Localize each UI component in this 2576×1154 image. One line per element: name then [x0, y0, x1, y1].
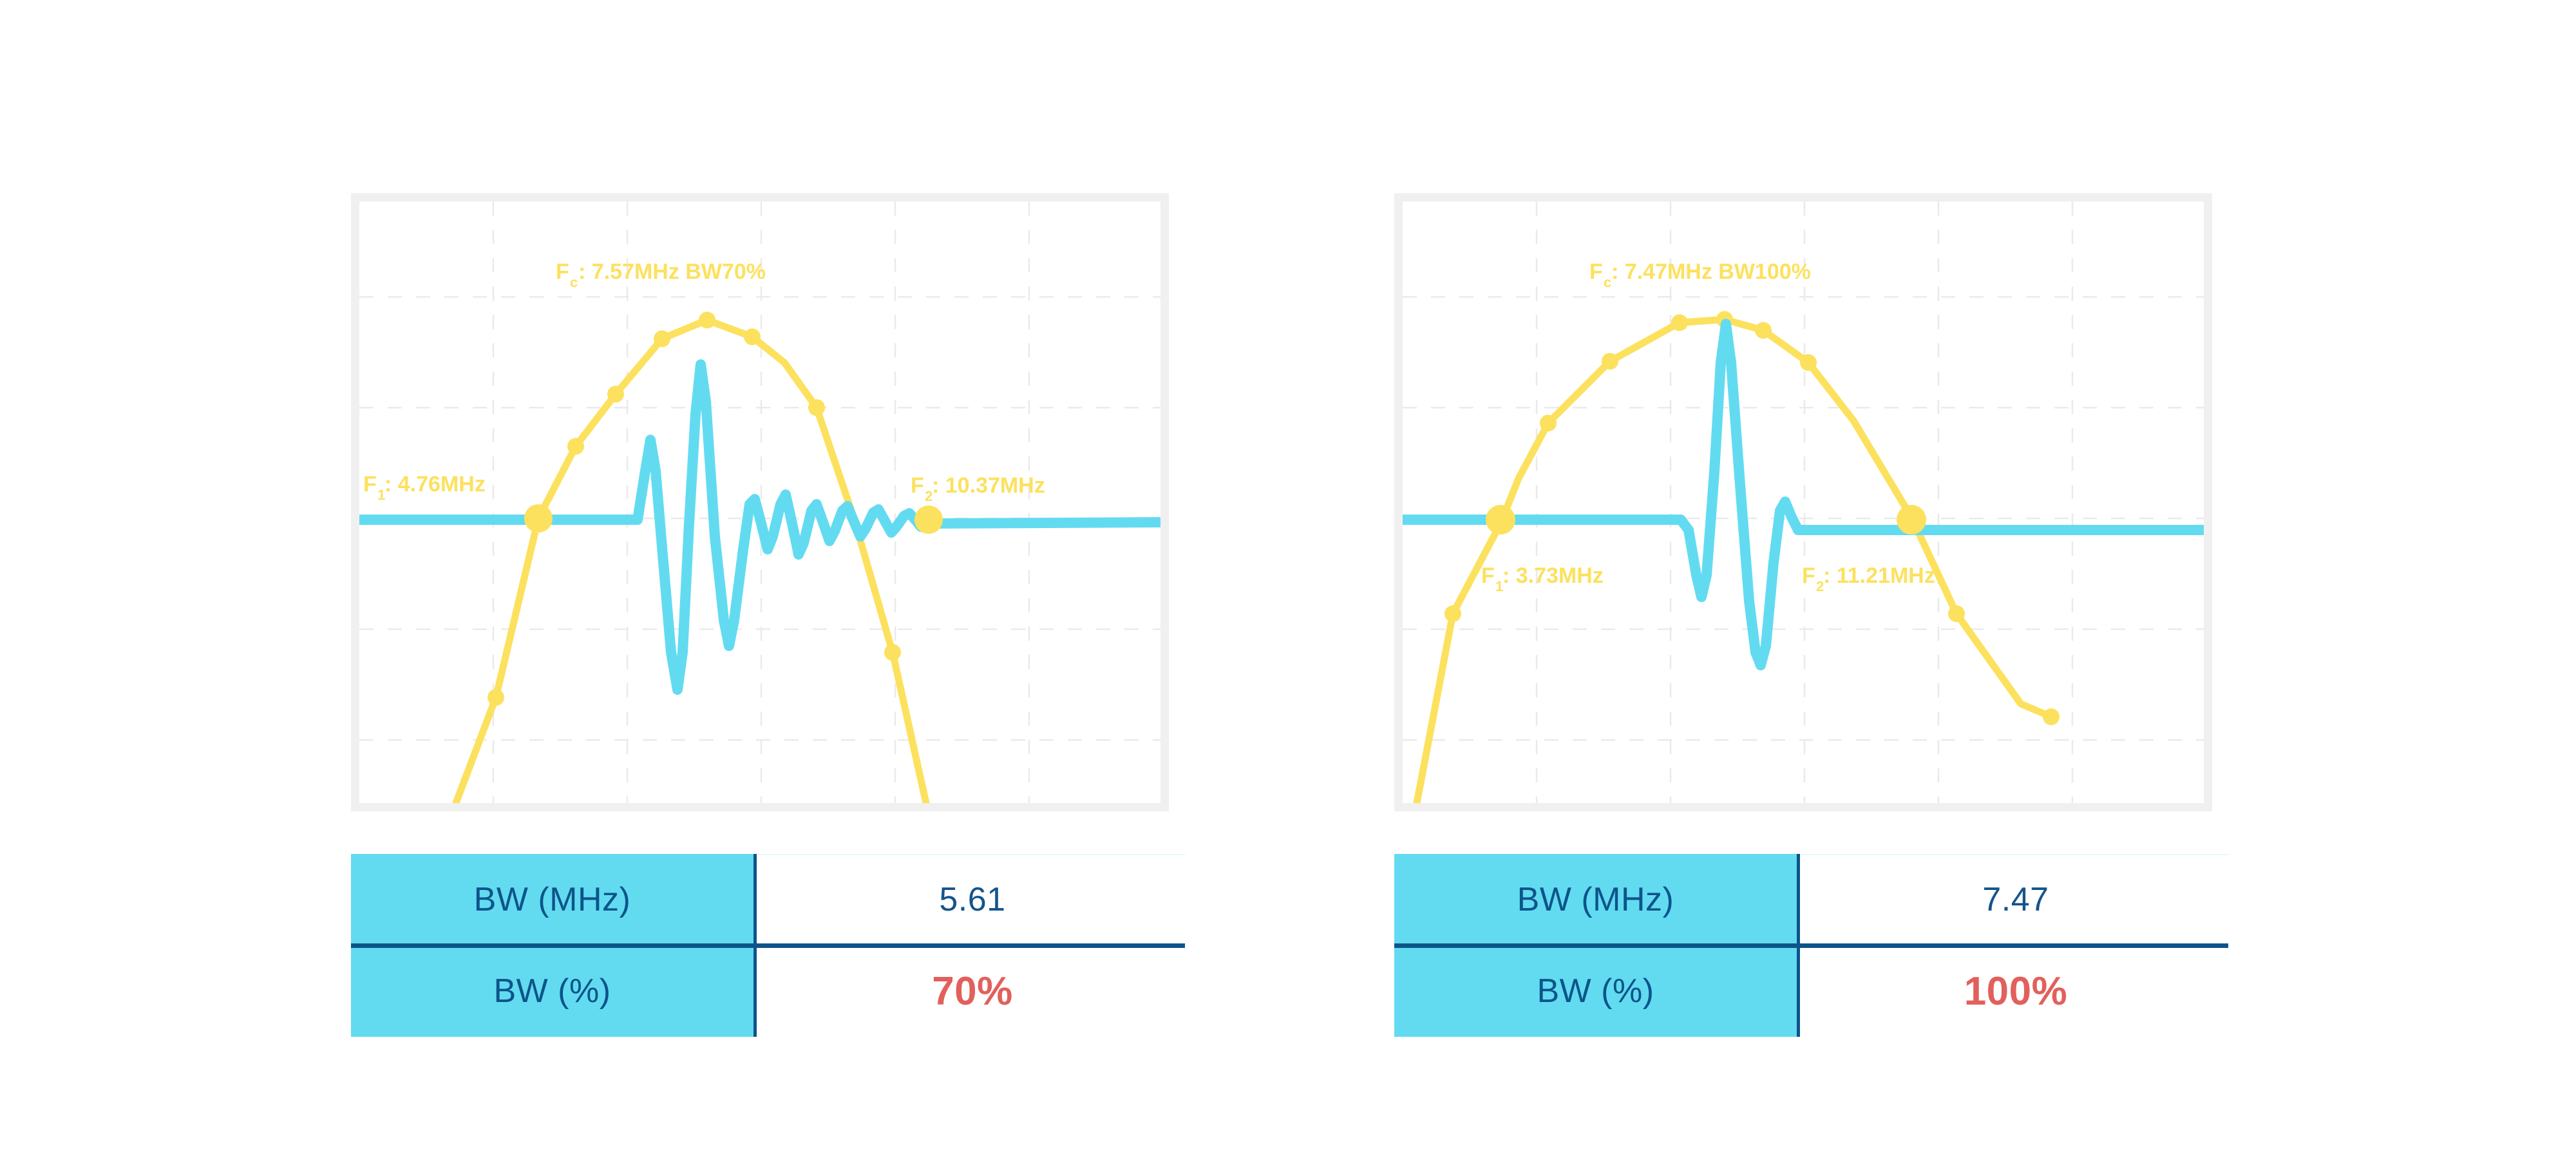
label-f2-prefix: F [911, 473, 924, 498]
label-f1-text: : 3.73MHz [1502, 563, 1604, 588]
annotation-center-left: F c : 7.57MHz BW70% [556, 260, 766, 290]
page-canvas: F c : 7.57MHz BW70% F 1 : 4.76MHz F 2 : … [0, 0, 2576, 1154]
table-top-hairline [757, 854, 1185, 855]
annotation-f1-left: F 1 : 4.76MHz [363, 472, 486, 503]
bw-pct-value-cell: 70% [757, 945, 1188, 1037]
label-fc-prefix: F [556, 260, 569, 284]
rf-pulse-cyan [359, 364, 1160, 690]
label-f1-text: : 4.76MHz [384, 472, 486, 497]
bw-mhz-value: 7.47 [1982, 880, 2049, 919]
marker-f2 [1897, 505, 1926, 534]
bw-pct-label: BW (%) [351, 945, 757, 1037]
marker-f1 [1486, 505, 1515, 534]
bw-pct-value: 100% [1964, 969, 2068, 1014]
annotation-f1-right: F 1 : 3.73MHz [1481, 563, 1604, 594]
label-fc-text: : 7.47MHz BW100% [1611, 260, 1811, 284]
label-fc-text: : 7.57MHz BW70% [578, 260, 766, 284]
chart-left-plot: F c : 7.57MHz BW70% F 1 : 4.76MHz F 2 : … [359, 202, 1160, 803]
chart-right-plot: F c : 7.47MHz BW100% F 1 : 3.73MHz F 2 :… [1403, 202, 2204, 803]
table-divider [351, 943, 1185, 948]
bw-pct-value: 70% [932, 969, 1013, 1014]
bw-pct-label: BW (%) [1394, 945, 1800, 1037]
label-fc-sub: c [1604, 274, 1611, 290]
panel-right: F c : 7.47MHz BW100% F 1 : 3.73MHz F 2 :… [1394, 193, 2231, 1037]
bw-mhz-value-cell: 7.47 [1800, 854, 2231, 945]
table-row: BW (MHz) 7.47 [1394, 854, 2231, 945]
label-f1-prefix: F [363, 472, 377, 497]
bw-mhz-label: BW (MHz) [351, 854, 757, 945]
annotation-center-right: F c : 7.47MHz BW100% [1589, 260, 1811, 290]
table-top-hairline [1800, 854, 2228, 855]
bw-table-left: BW (MHz) 5.61 BW (%) 70% [351, 854, 1188, 1037]
marker-f1 [524, 504, 553, 533]
annotation-f2-right: F 2 : 11.21MHz [1802, 563, 1935, 594]
grid-lines [1403, 202, 2204, 803]
annotation-f2-left: F 2 : 10.37MHz [911, 473, 1045, 504]
label-f2-text: : 10.37MHz [932, 473, 1045, 498]
bw-mhz-value: 5.61 [939, 880, 1005, 919]
label-fc-sub: c [570, 274, 578, 290]
bw-table-right: BW (MHz) 7.47 BW (%) 100% [1394, 854, 2231, 1037]
chart-left: F c : 7.57MHz BW70% F 1 : 4.76MHz F 2 : … [351, 193, 1169, 811]
label-f2-text: : 11.21MHz [1823, 563, 1935, 588]
marker-f2 [914, 506, 943, 534]
bw-mhz-value-cell: 5.61 [757, 854, 1188, 945]
panel-left: F c : 7.57MHz BW70% F 1 : 4.76MHz F 2 : … [351, 193, 1188, 1037]
label-fc-prefix: F [1589, 260, 1603, 284]
table-row: BW (MHz) 5.61 [351, 854, 1188, 945]
bw-mhz-label: BW (MHz) [1394, 854, 1800, 945]
table-row: BW (%) 100% [1394, 945, 2231, 1037]
chart-right: F c : 7.47MHz BW100% F 1 : 3.73MHz F 2 :… [1394, 193, 2212, 811]
label-f2-prefix: F [1802, 563, 1815, 588]
rf-pulse-cyan [1403, 324, 2204, 665]
bw-pct-value-cell: 100% [1800, 945, 2231, 1037]
label-f1-prefix: F [1481, 563, 1495, 588]
table-row: BW (%) 70% [351, 945, 1188, 1037]
table-divider [1394, 943, 2228, 948]
